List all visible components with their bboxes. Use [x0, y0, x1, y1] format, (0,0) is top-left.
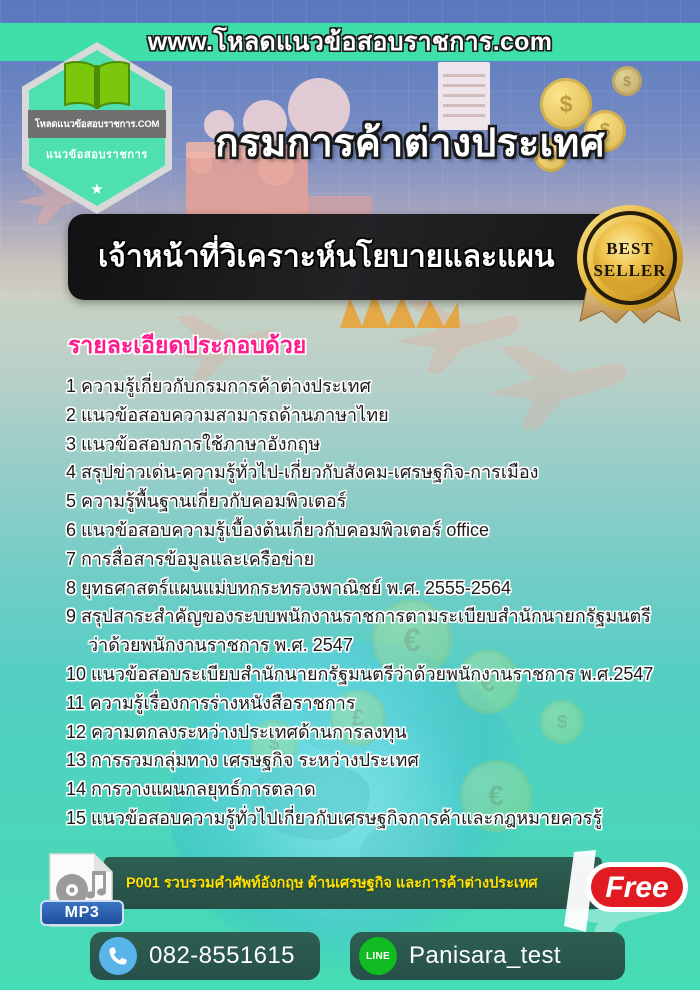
line-icon-label: LINE: [366, 951, 390, 962]
open-book-icon: [61, 59, 133, 116]
list-item: 2 แนวข้อสอบความสามารถด้านภาษาไทย: [66, 401, 686, 430]
list-item: 13 การรวมกลุ่มทาง เศรษฐกิจ ระหว่างประเทศ: [66, 746, 686, 775]
svg-text:Free: Free: [605, 871, 668, 904]
logo-url-strip: โหลดแนวข้อสอบราชการ.COM: [28, 110, 166, 138]
list-item: 10 แนวข้อสอบระเบียบสำนักนายกรัฐมนตรีว่าด…: [66, 660, 686, 689]
list-item: 7 การสื่อสารข้อมูลและเครือข่าย: [66, 545, 686, 574]
details-list: 1 ความรู้เกี่ยวกับกรมการค้าต่างประเทศ 2 …: [66, 372, 686, 833]
line-id: Panisara_test: [409, 942, 561, 970]
list-item: 3 แนวข้อสอบการใช้ภาษาอังกฤษ: [66, 430, 686, 459]
coin-graphic-4: $: [612, 66, 642, 96]
list-item: 5 ความรู้พื้นฐานเกี่ยวกับคอมพิวเตอร์: [66, 487, 686, 516]
line-contact-pill[interactable]: LINE Panisara_test: [350, 932, 625, 980]
star-icon: ★: [90, 182, 103, 197]
logo-url-text: โหลดแนวข้อสอบราชการ.COM: [35, 117, 160, 132]
list-item: 8 ยุทธศาสตร์แผนแม่บทกระทรวงพาณิชย์ พ.ศ. …: [66, 574, 686, 603]
logo-subtitle: แนวข้อสอบราชการ: [22, 145, 172, 163]
free-badge: Free: [562, 848, 692, 934]
list-item: 6 แนวข้อสอบความรู้เบื้องต้นเกี่ยวกับคอมพ…: [66, 516, 686, 545]
mp3-file-icon: MP3: [46, 852, 118, 928]
list-item-continuation: ว่าด้วยพนักงานราชการ พ.ศ. 2547: [66, 631, 686, 660]
contact-footer: 082-8551615 LINE Panisara_test: [0, 928, 700, 984]
list-item: 4 สรุปข่าวเด่น-ความรู้ทั่วไป-เกี่ยวกับสั…: [66, 458, 686, 487]
website-url-text: www.โหลดแนวข้อสอบราชการ.com: [148, 22, 553, 62]
list-item: 11 ความรู้เรื่องการร่างหนังสือราชการ: [66, 689, 686, 718]
position-title-text: เจ้าหน้าที่วิเคราะห์นโยบายและแผน: [98, 234, 555, 281]
brand-logo-badge: โหลดแนวข้อสอบราชการ.COM แนวข้อสอบราชการ …: [22, 42, 172, 214]
svg-text:SELLER: SELLER: [593, 261, 666, 280]
list-item: 15 แนวข้อสอบความรู้ทั่วไปเกี่ยวกับเศรษฐก…: [66, 804, 686, 833]
phone-number: 082-8551615: [149, 942, 295, 970]
details-heading: รายละเอียดประกอบด้วย: [68, 328, 306, 364]
mp3-description: P001 รวบรวมคำศัพท์อังกฤษ ด้านเศรษฐกิจ แล…: [126, 872, 538, 895]
list-item: 1 ความรู้เกี่ยวกับกรมการค้าต่างประเทศ: [66, 372, 686, 401]
mp3-tag-badge: MP3: [40, 900, 124, 926]
mp3-promo-bar: P001 รวบรวมคำศัพท์อังกฤษ ด้านเศรษฐกิจ แล…: [0, 852, 700, 930]
list-item: 14 การวางแผนกลยุทธ์การตลาด: [66, 775, 686, 804]
list-item: 12 ความตกลงระหว่างประเทศด้านการลงทุน: [66, 718, 686, 747]
mp3-text-bar: P001 รวบรวมคำศัพท์อังกฤษ ด้านเศรษฐกิจ แล…: [104, 857, 602, 909]
best-seller-badge: BEST SELLER: [572, 203, 688, 327]
mp3-tag-text: MP3: [65, 904, 100, 922]
svg-text:BEST: BEST: [606, 239, 653, 258]
poster-canvas: $ $ $ $ € € £ € $ $ www.โหลดแนวข้อสอบราช…: [0, 0, 700, 990]
line-icon: LINE: [359, 937, 397, 975]
list-item: 9 สรุปสาระสำคัญของระบบพนักงานราชการตามระ…: [66, 602, 686, 631]
phone-icon: [99, 937, 137, 975]
phone-contact-pill[interactable]: 082-8551615: [90, 932, 320, 980]
